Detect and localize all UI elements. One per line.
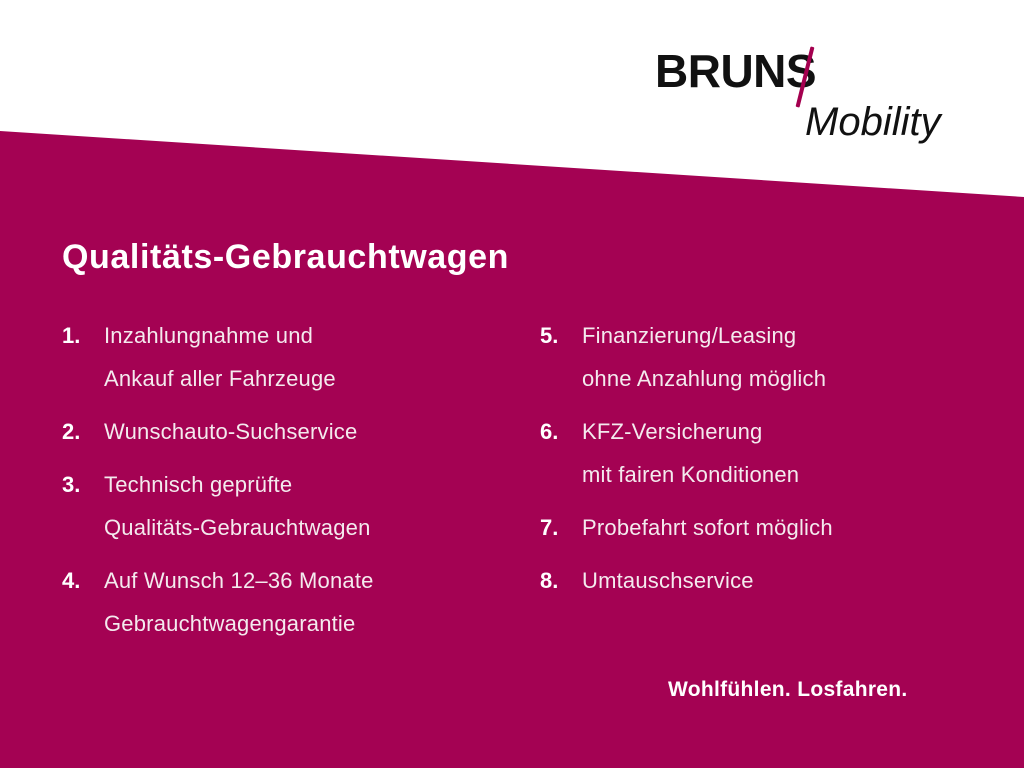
list-item-line: Probefahrt sofort möglich (582, 512, 990, 543)
list-item: 4.Auf Wunsch 12–36 MonateGebrauchtwageng… (62, 565, 522, 639)
list-item-line: Inzahlungnahme und (104, 320, 522, 351)
list-item-text: Technisch geprüfteQualitäts-Gebrauchtwag… (104, 469, 522, 543)
list-item-number: 3. (62, 469, 104, 500)
list-item-line: Finanzierung/Leasing (582, 320, 990, 351)
list-item-number: 6. (540, 416, 582, 447)
list-item-line: mit fairen Konditionen (582, 459, 990, 490)
list-item-number: 5. (540, 320, 582, 351)
logo-subtitle: Mobility (805, 102, 941, 142)
tagline: Wohlfühlen. Losfahren. (668, 678, 908, 702)
list-item-text: Inzahlungnahme undAnkauf aller Fahrzeuge (104, 320, 522, 394)
list-item-text: Auf Wunsch 12–36 MonateGebrauchtwagengar… (104, 565, 522, 639)
list-item: 5.Finanzierung/Leasingohne Anzahlung mög… (540, 320, 990, 394)
list-item-line: Qualitäts-Gebrauchtwagen (104, 512, 522, 543)
list-item-number: 7. (540, 512, 582, 543)
page-title: Qualitäts-Gebrauchtwagen (62, 238, 509, 277)
logo-wordmark: BRUNS (655, 48, 816, 94)
list-item-line: Ankauf aller Fahrzeuge (104, 363, 522, 394)
service-list-left: 1.Inzahlungnahme undAnkauf aller Fahrzeu… (62, 320, 522, 661)
list-item-text: Wunschauto-Suchservice (104, 416, 522, 447)
service-list-right: 5.Finanzierung/Leasingohne Anzahlung mög… (540, 320, 990, 618)
list-item-line: ohne Anzahlung möglich (582, 363, 990, 394)
list-item-line: Technisch geprüfte (104, 469, 522, 500)
list-item: 7.Probefahrt sofort möglich (540, 512, 990, 543)
list-item-text: Finanzierung/Leasingohne Anzahlung mögli… (582, 320, 990, 394)
list-item-number: 8. (540, 565, 582, 596)
brand-logo: BRUNS Mobility (655, 48, 975, 158)
list-item-text: KFZ-Versicherungmit fairen Konditionen (582, 416, 990, 490)
list-item-line: Wunschauto-Suchservice (104, 416, 522, 447)
list-item-line: Auf Wunsch 12–36 Monate (104, 565, 522, 596)
list-item-number: 1. (62, 320, 104, 351)
list-item-number: 4. (62, 565, 104, 596)
list-item-text: Umtauschservice (582, 565, 990, 596)
list-item: 2.Wunschauto-Suchservice (62, 416, 522, 447)
list-item-number: 2. (62, 416, 104, 447)
list-item: 8.Umtauschservice (540, 565, 990, 596)
list-item-line: Umtauschservice (582, 565, 990, 596)
list-item-line: KFZ-Versicherung (582, 416, 990, 447)
list-item: 6.KFZ-Versicherungmit fairen Konditionen (540, 416, 990, 490)
list-item-line: Gebrauchtwagengarantie (104, 608, 522, 639)
slide-root: BRUNS Mobility Qualitäts-Gebrauchtwagen … (0, 0, 1024, 768)
list-item-text: Probefahrt sofort möglich (582, 512, 990, 543)
list-item: 3.Technisch geprüfteQualitäts-Gebrauchtw… (62, 469, 522, 543)
list-item: 1.Inzahlungnahme undAnkauf aller Fahrzeu… (62, 320, 522, 394)
